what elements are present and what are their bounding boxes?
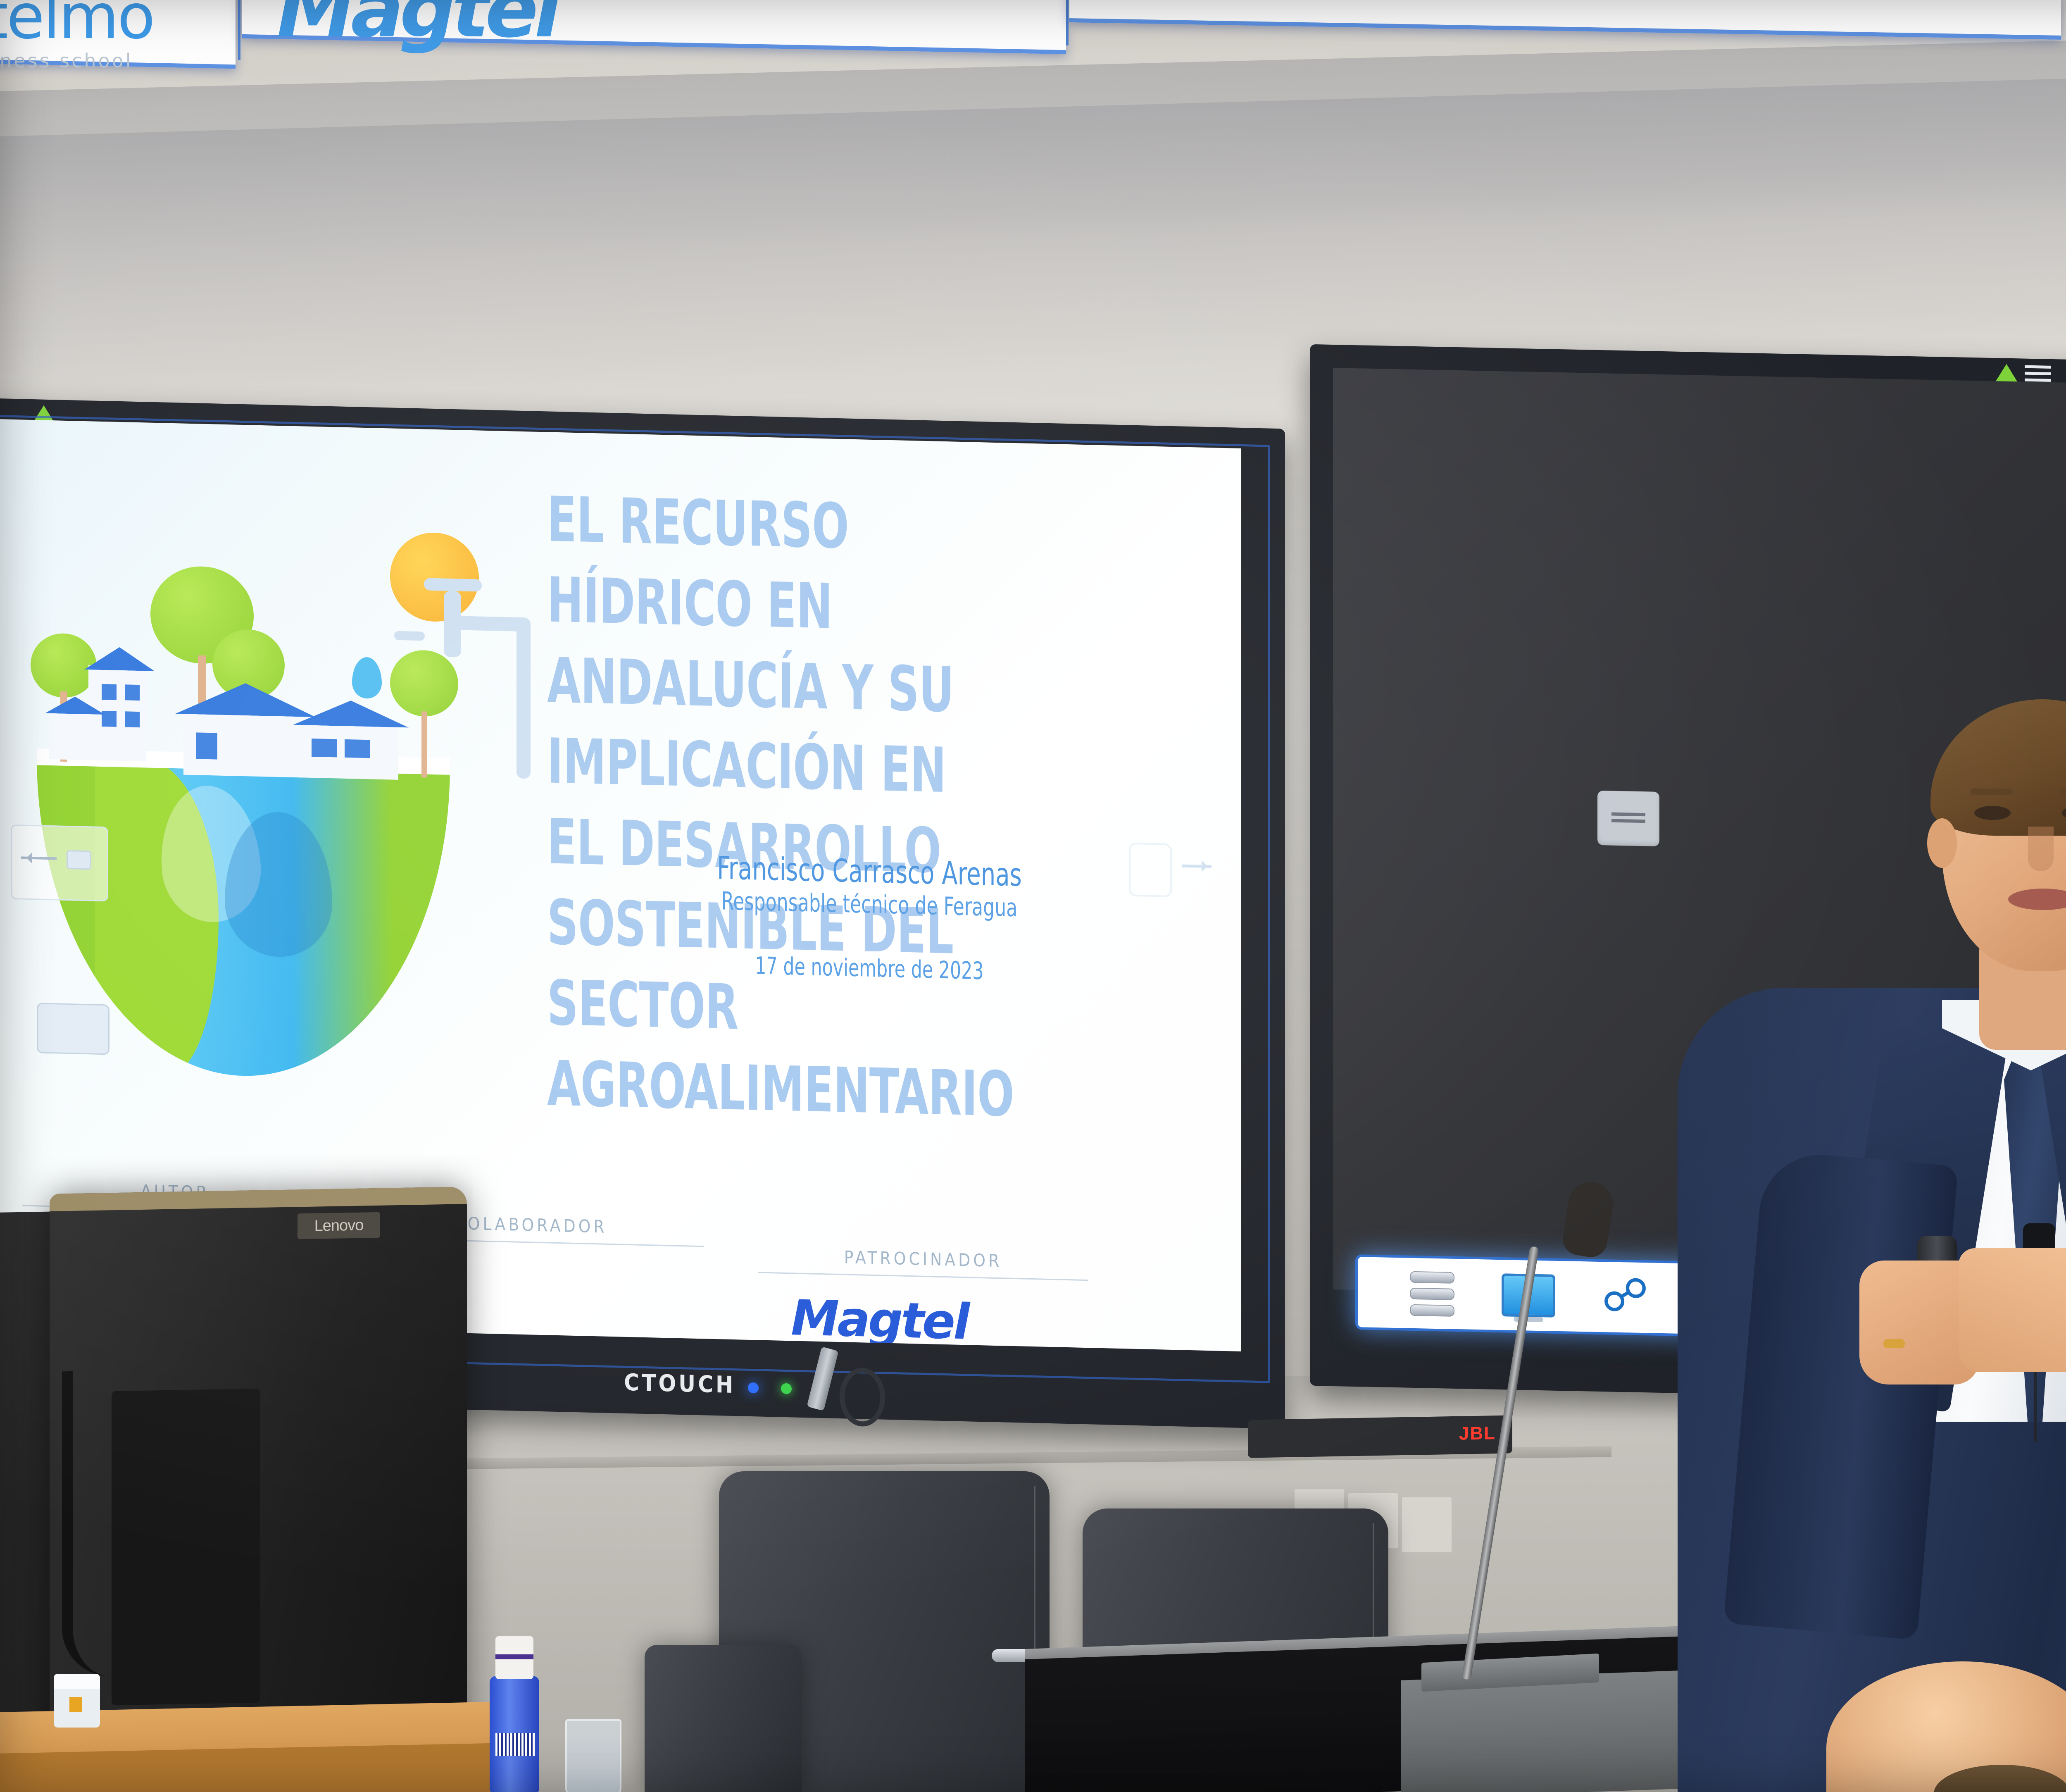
menu-icon[interactable] xyxy=(1407,1269,1456,1318)
panel-divider xyxy=(238,0,240,60)
power-led-green xyxy=(781,1383,792,1394)
key-icon xyxy=(807,1346,838,1411)
key-in-lock[interactable] xyxy=(806,1347,868,1432)
jbl-brand-label: JBL xyxy=(1459,1423,1496,1444)
magtel-logo-banner: Magtel xyxy=(277,0,557,55)
lenovo-brand-label: Lenovo xyxy=(298,1212,380,1239)
hand-right xyxy=(1959,1248,2066,1372)
nose xyxy=(2028,827,2054,871)
jar-container[interactable] xyxy=(54,1674,100,1728)
ear-left xyxy=(1927,818,1957,868)
jar-label xyxy=(69,1697,82,1712)
eyebrow-right xyxy=(2059,789,2066,795)
lenovo-monitor[interactable]: Lenovo xyxy=(50,1187,467,1792)
bottle-cap-band xyxy=(495,1654,533,1659)
arm-left xyxy=(1723,1150,1958,1640)
ring xyxy=(1883,1339,1905,1348)
panel-divider xyxy=(1066,0,1069,45)
jbl-speaker: JBL xyxy=(1248,1415,1512,1458)
santelmo-tagline: business school xyxy=(0,50,154,72)
wall-socket[interactable] xyxy=(1401,1496,1453,1553)
water-bottle[interactable] xyxy=(490,1676,539,1792)
drinking-glass[interactable] xyxy=(565,1719,621,1792)
screenshot-root: ntelmo business school Magtel ☍ ➤➤ xyxy=(0,0,2066,1792)
santelmo-logo-banner: ntelmo business school xyxy=(0,0,154,72)
monitor-cable xyxy=(62,1370,143,1677)
display-badge xyxy=(1597,791,1659,846)
santelmo-wordmark: ntelmo xyxy=(0,0,154,53)
eye-left xyxy=(1974,806,2011,820)
power-led-blue xyxy=(748,1382,759,1394)
keyring-icon xyxy=(840,1367,885,1427)
bluetooth-icon[interactable]: ☍ xyxy=(1601,1273,1649,1322)
presenter-person xyxy=(1678,670,2066,1792)
bezel-lines-icon xyxy=(2025,365,2051,384)
power-indicator-icon xyxy=(1996,364,2017,381)
eyebrow-left xyxy=(1970,789,2013,795)
conference-chair[interactable] xyxy=(645,1645,802,1792)
ctouch-brand-label: CTOUCH xyxy=(624,1369,735,1399)
jar-lid xyxy=(54,1674,100,1689)
bottle-barcode-label xyxy=(495,1733,535,1756)
